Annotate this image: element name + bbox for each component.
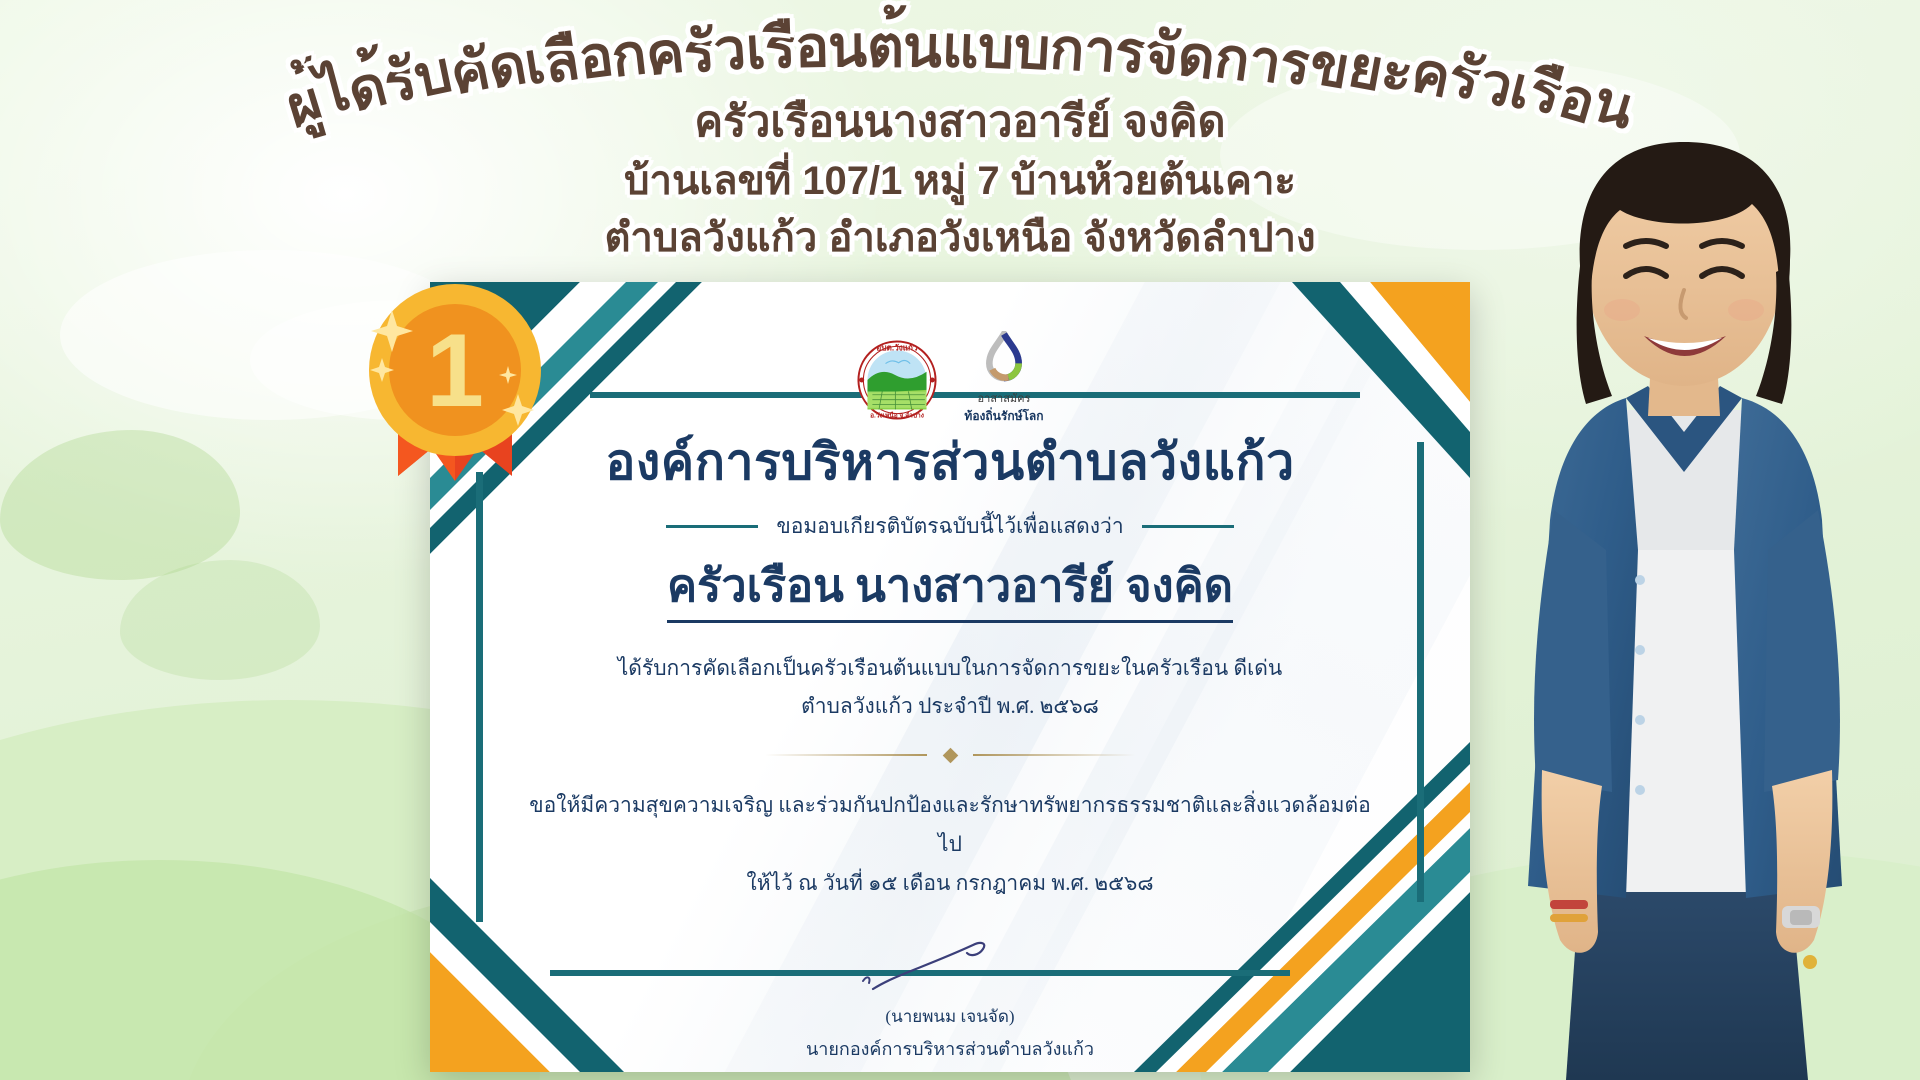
body-line-2: ตำบลวังแก้ว ประจำปี พ.ศ. ๒๕๖๘	[520, 687, 1380, 726]
award-intro-text: ขอมอบเกียรติบัตรฉบับนี้ไว้เพื่อแสดงว่า	[776, 510, 1123, 543]
recipient-name: ครัวเรือน นางสาวอารีย์ จงคิด	[667, 557, 1233, 623]
divider-rule-right	[973, 754, 1135, 756]
certificate: อบต.วังแก้ว อ.วังเหนือ จ.ลำปาง	[430, 282, 1470, 1072]
body-line-4: ให้ไว้ ณ วันที่ ๑๕ เดือน กรกฎาคม พ.ศ. ๒๕…	[520, 864, 1380, 903]
award-intro-row: ขอมอบเกียรติบัตรฉบับนี้ไว้เพื่อแสดงว่า	[520, 510, 1380, 543]
sao-wang-kaeo-seal-icon: อบต.วังแก้ว อ.วังเหนือ จ.ลำปาง	[856, 339, 938, 426]
intro-rule-left	[666, 525, 758, 528]
first-place-medal-icon: 1	[340, 266, 570, 516]
certificate-body-paragraph-2: ขอให้มีความสุขความเจริญ และร่วมกันปกป้อง…	[520, 786, 1380, 903]
intro-rule-right	[1142, 525, 1234, 528]
certificate-frame-line-left	[476, 472, 483, 922]
organization-title: องค์การบริหารส่วนตำบลวังแก้ว	[520, 432, 1380, 492]
volunteer-label-line2: ท้องถิ่นรักษ์โลก	[964, 407, 1043, 426]
body-line-1: ได้รับการคัดเลือกเป็นครัวเรือนต้นแบบในกา…	[520, 649, 1380, 688]
certificate-body-paragraph-1: ได้รับการคัดเลือกเป็นครัวเรือนต้นแบบในกา…	[520, 649, 1380, 727]
certificate-logos: อบต.วังแก้ว อ.วังเหนือ จ.ลำปาง	[520, 334, 1380, 426]
divider-diamond-icon	[942, 748, 958, 764]
signature-mark-icon	[520, 937, 1380, 1001]
award-recipient-photo	[1420, 0, 1920, 1080]
divider-rule-left	[765, 754, 927, 756]
certificate-content: อบต.วังแก้ว อ.วังเหนือ จ.ลำปาง	[520, 334, 1380, 1063]
medal-rank-number: 1	[426, 313, 484, 429]
poster-canvas: ผู้ได้รับคัดเลือกครัวเรือนต้นแบบการจัดกา…	[0, 0, 1920, 1080]
ornamental-divider	[765, 748, 1135, 762]
svg-text:อ.วังเหนือ จ.ลำปาง: อ.วังเหนือ จ.ลำปาง	[871, 412, 925, 420]
signature-block: (นายพนม เจนจัด) นายกองค์การบริหารส่วนตำบ…	[520, 937, 1380, 1063]
certificate-paper: อบต.วังแก้ว อ.วังเหนือ จ.ลำปาง	[430, 282, 1470, 1072]
body-line-3: ขอให้มีความสุขความเจริญ และร่วมกันปกป้อง…	[520, 786, 1380, 864]
signer-name: (นายพนม เจนจัด)	[520, 1003, 1380, 1030]
svg-text:อบต.วังแก้ว: อบต.วังแก้ว	[877, 342, 919, 352]
signer-role: นายกองค์การบริหารส่วนตำบลวังแก้ว	[520, 1034, 1380, 1063]
volunteer-label-line1: อาสาสมัคร	[978, 389, 1031, 407]
volunteer-logo: อาสาสมัคร ท้องถิ่นรักษ์โลก	[964, 331, 1043, 426]
water-drop-icon	[982, 331, 1026, 387]
